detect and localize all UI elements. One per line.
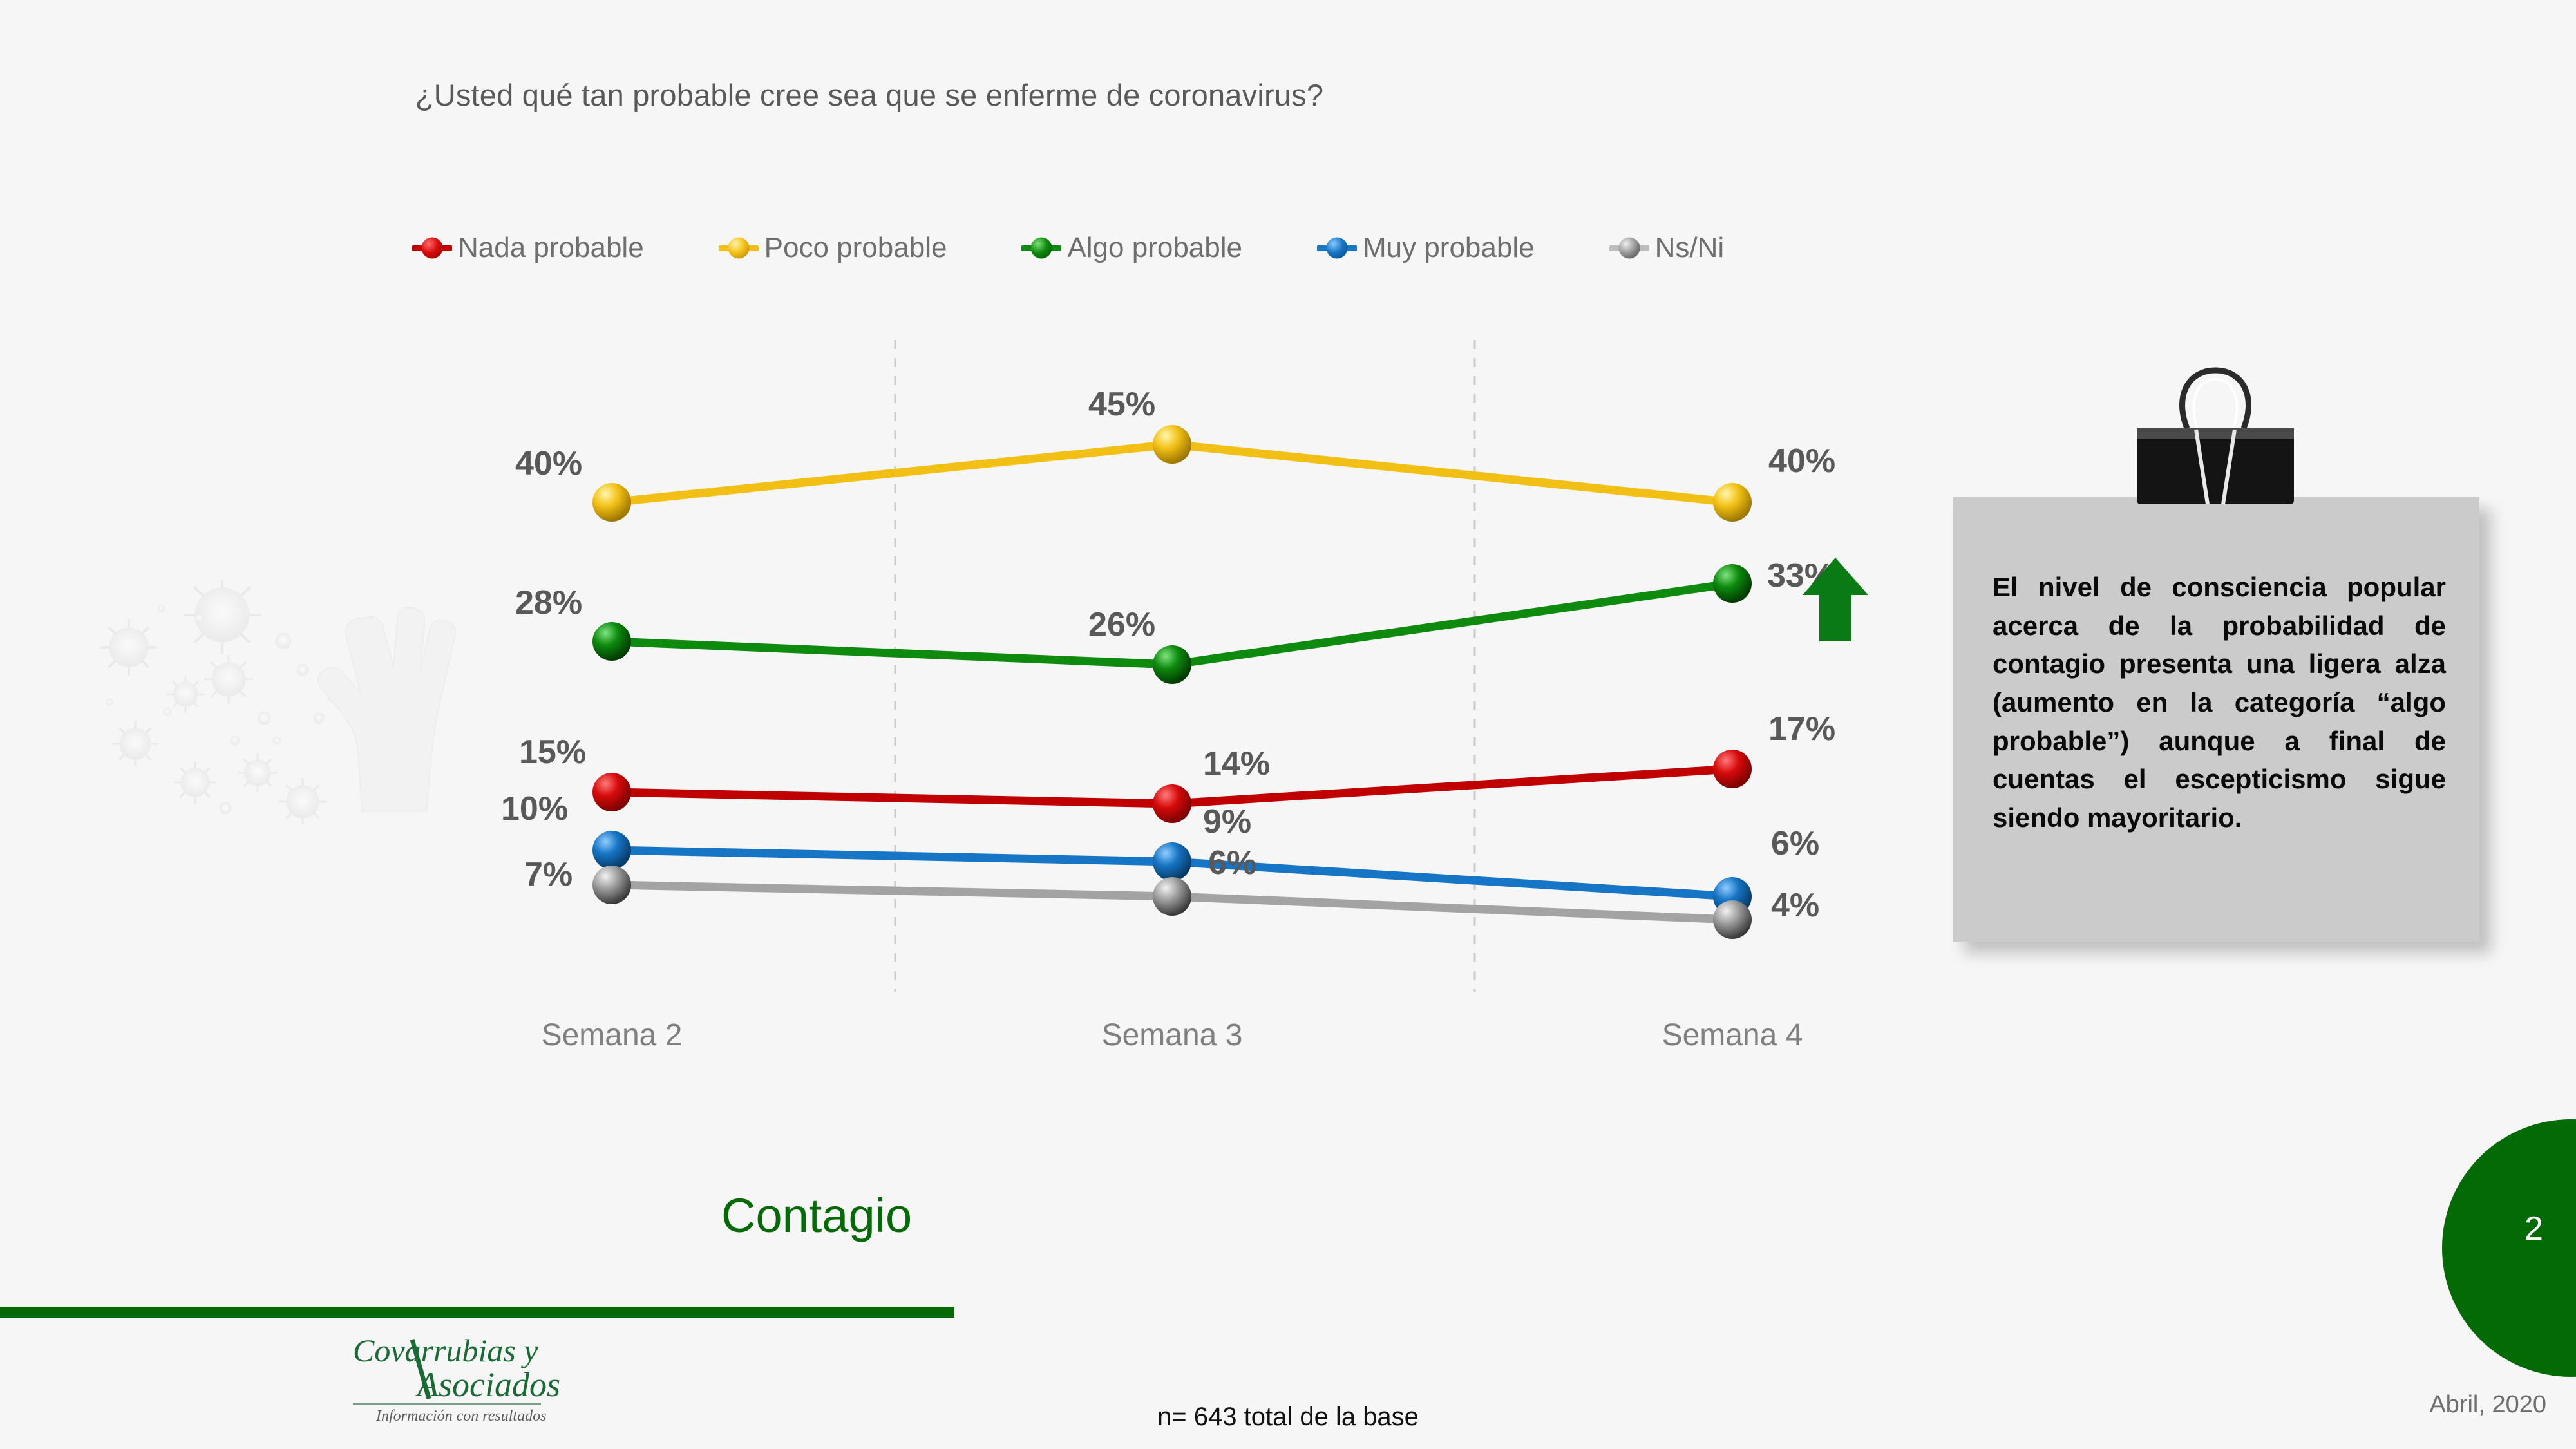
- insight-note-text: El nivel de consciencia popular acerca d…: [1993, 568, 2446, 837]
- chart-legend: Nada probable Poco probable Algo probabl…: [412, 219, 1958, 277]
- sample-size-note: n= 643 total de la base: [966, 1403, 1610, 1432]
- data-label-muy-s3: 9%: [1203, 802, 1251, 841]
- legend-item-poco-probable[interactable]: Poco probable: [719, 232, 947, 264]
- coronavirus-hand-watermark: [71, 580, 470, 824]
- slide-canvas: ¿Usted qué tan probable cree sea que se …: [0, 0, 2576, 1449]
- date-label: Abril, 2020: [2429, 1391, 2546, 1419]
- data-label-algo-s3: 26%: [1088, 605, 1155, 644]
- legend-swatch-poco-probable: [719, 245, 759, 251]
- legend-label-poco-probable: Poco probable: [764, 232, 947, 264]
- chart-title: ¿Usted qué tan probable cree sea que se …: [0, 77, 1739, 113]
- data-label-nsni-s2: 7%: [524, 855, 573, 894]
- logo-tagline: Información con resultados: [375, 1408, 546, 1423]
- legend-swatch-muy-probable: [1317, 245, 1357, 251]
- data-label-nada-s4: 17%: [1768, 710, 1835, 748]
- data-label-algo-s2: 28%: [515, 583, 582, 622]
- legend-swatch-algo-probable: [1021, 245, 1061, 251]
- up-arrow-icon: [1800, 555, 1871, 645]
- data-label-nsni-s4: 4%: [1771, 886, 1819, 925]
- legend-swatch-ns-ni: [1609, 245, 1649, 251]
- series-markers-nada-probable: [592, 750, 1752, 823]
- legend-label-muy-probable: Muy probable: [1363, 232, 1535, 264]
- data-label-muy-s2: 10%: [501, 790, 568, 828]
- legend-item-algo-probable[interactable]: Algo probable: [1021, 232, 1242, 264]
- data-label-poco-s2: 40%: [515, 444, 582, 483]
- series-markers-algo-probable: [592, 564, 1752, 684]
- legend-label-ns-ni: Ns/Ni: [1655, 232, 1725, 264]
- logo-line-1: Covarrubias y: [353, 1332, 538, 1368]
- data-label-nada-s2: 15%: [519, 733, 586, 772]
- legend-item-nada-probable[interactable]: Nada probable: [412, 232, 644, 264]
- insight-note-box: El nivel de consciencia popular acerca d…: [1953, 497, 2479, 942]
- data-label-poco-s3: 45%: [1088, 385, 1155, 424]
- company-logo: Covarrubias y Asociados Información con …: [348, 1327, 618, 1423]
- page-number-badge: [2442, 1119, 2576, 1377]
- data-label-nada-s3: 14%: [1203, 744, 1270, 783]
- legend-item-muy-probable[interactable]: Muy probable: [1317, 232, 1535, 264]
- x-tick-semana-2: Semana 2: [542, 1018, 683, 1053]
- legend-item-ns-ni[interactable]: Ns/Ni: [1609, 232, 1725, 264]
- legend-label-nada-probable: Nada probable: [458, 232, 644, 264]
- binder-clip-icon: [2125, 357, 2306, 525]
- legend-swatch-nada-probable: [412, 245, 452, 251]
- legend-label-algo-probable: Algo probable: [1067, 232, 1242, 264]
- data-label-muy-s4: 6%: [1771, 824, 1819, 863]
- section-title: Contagio: [721, 1188, 912, 1243]
- x-tick-semana-4: Semana 4: [1662, 1018, 1803, 1053]
- series-markers-poco-probable: [592, 425, 1752, 522]
- data-label-nsni-s3: 6%: [1208, 844, 1256, 882]
- data-label-poco-s4: 40%: [1768, 442, 1835, 480]
- page-number-text: 2: [2524, 1209, 2543, 1248]
- green-divider-bar: [0, 1307, 954, 1318]
- line-chart-plot: 40% 28% 15% 10% 7% 45% 26% 14% 9% 6% 40%…: [489, 335, 1810, 1030]
- x-tick-semana-3: Semana 3: [1102, 1018, 1243, 1053]
- logo-line-2: Asociados: [415, 1365, 560, 1404]
